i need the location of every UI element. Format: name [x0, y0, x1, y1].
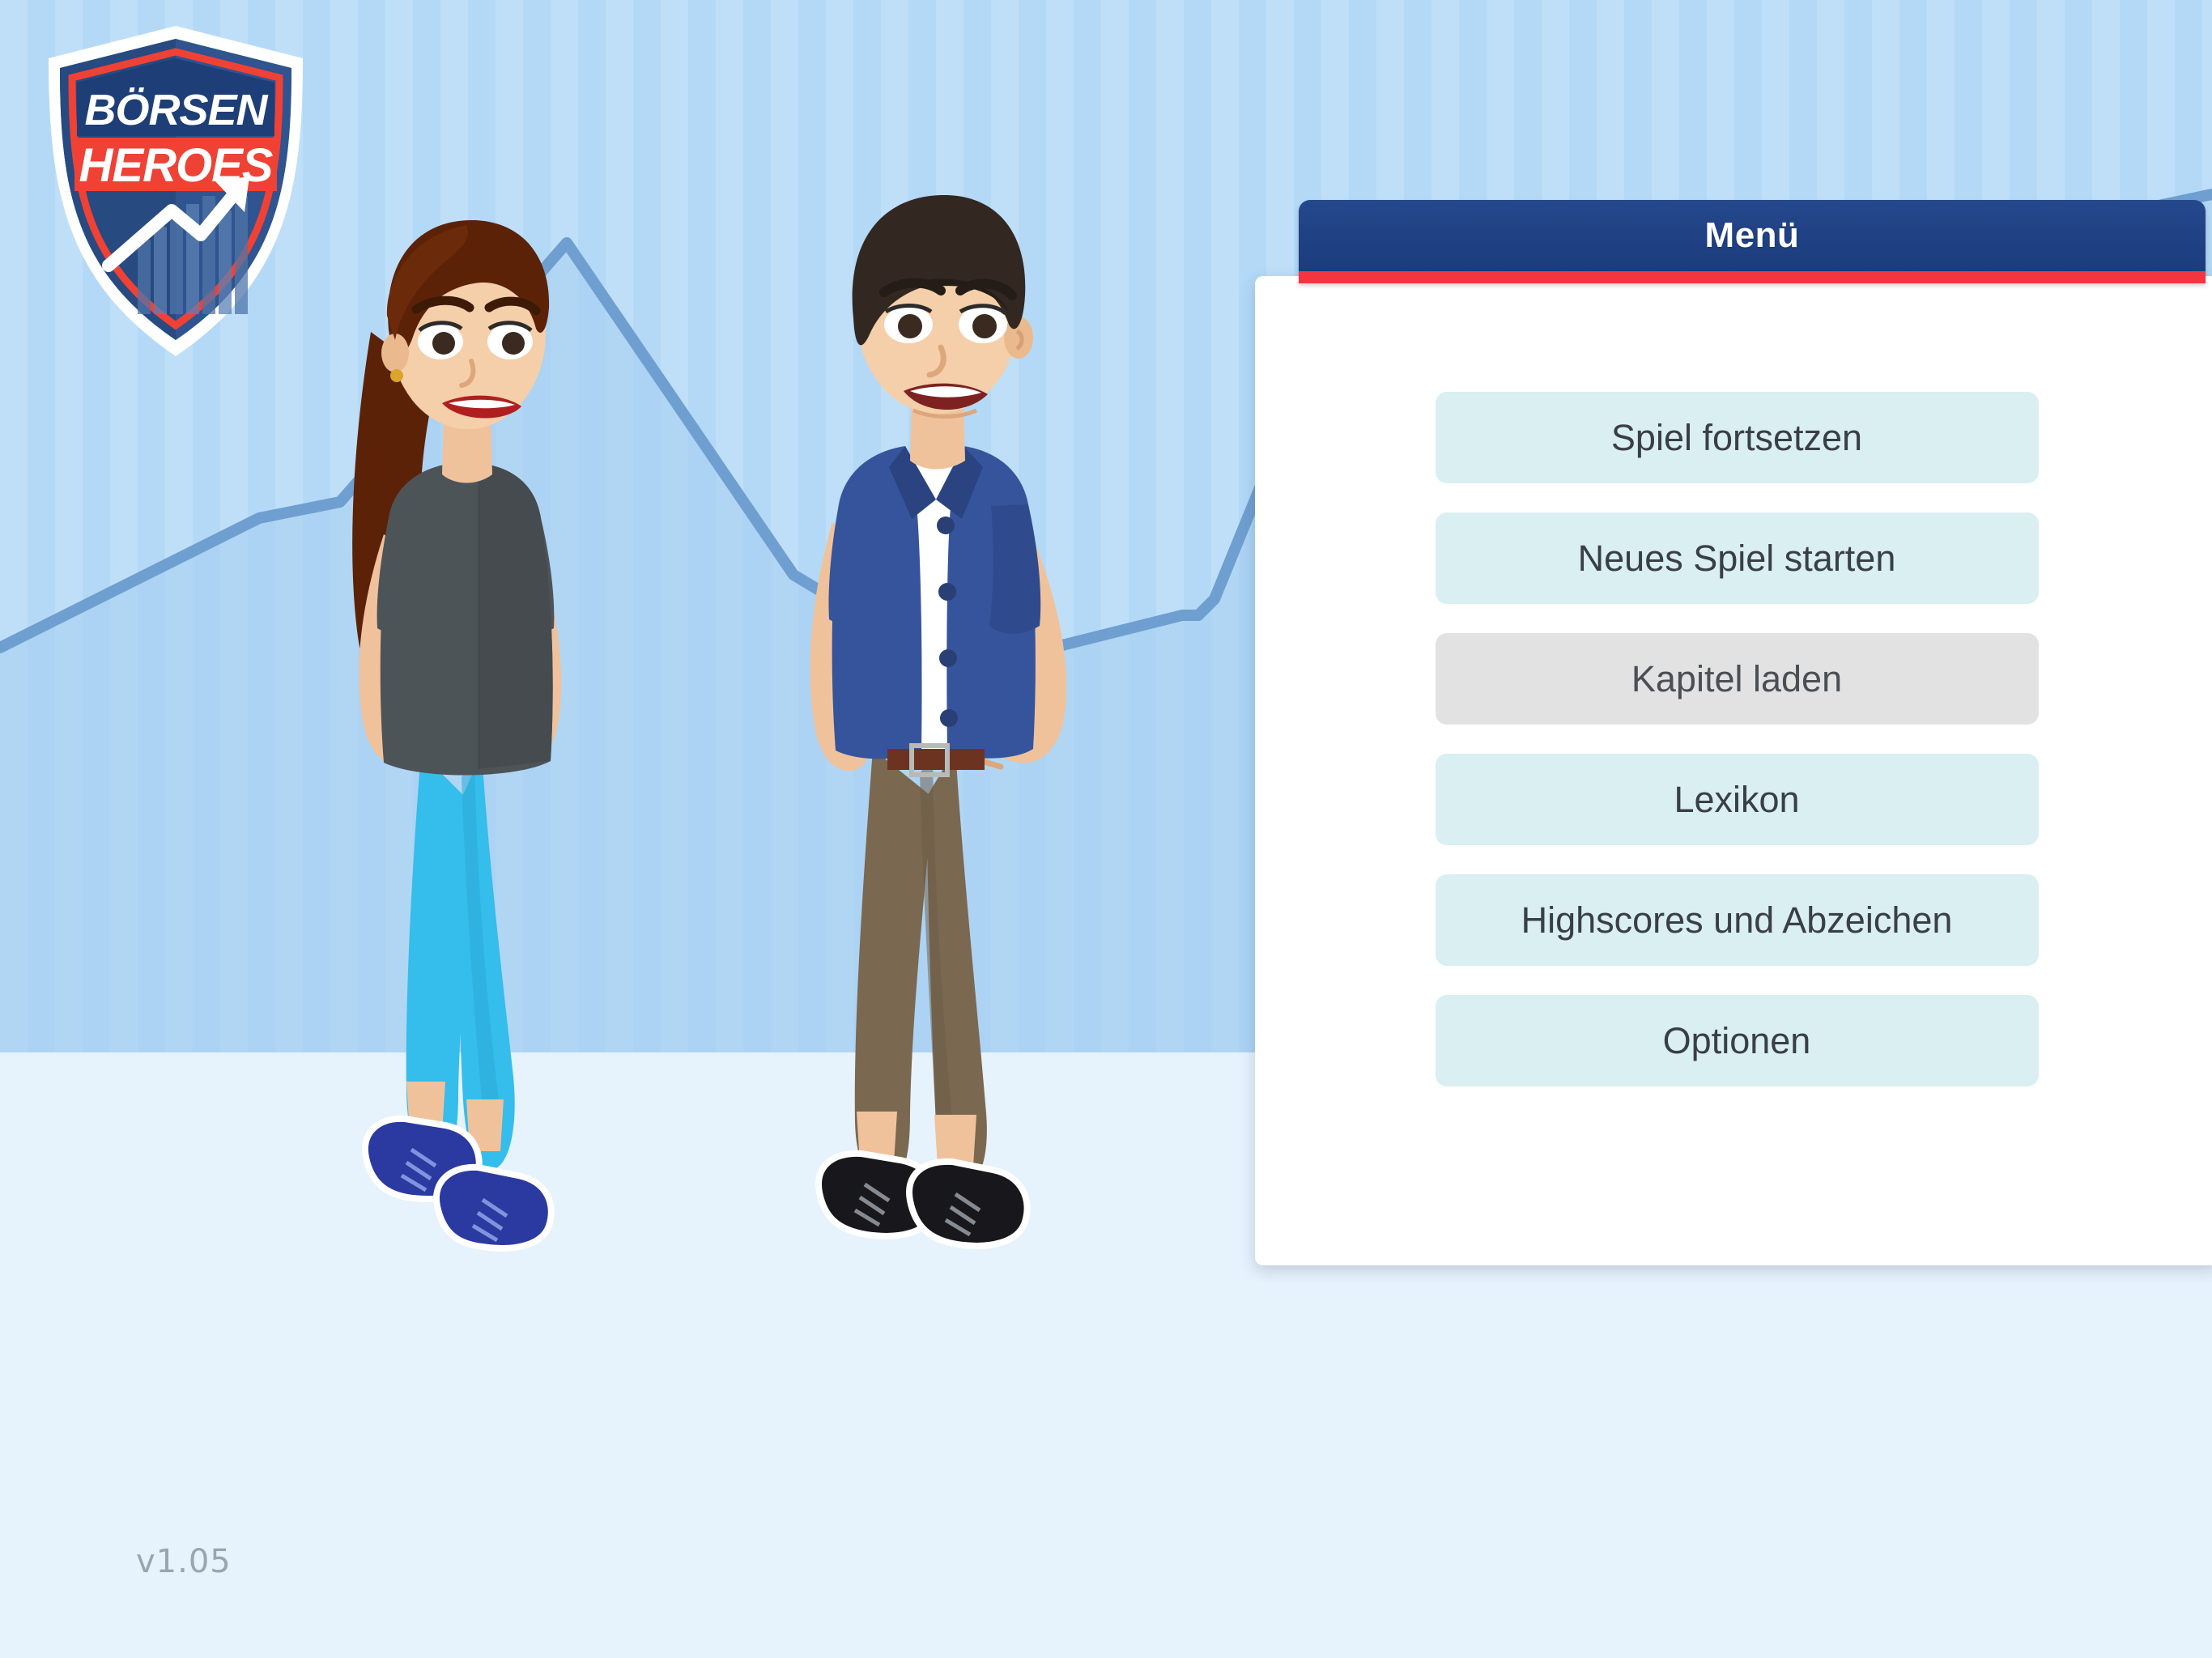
menu-button-list: Spiel fortsetzen Neues Spiel starten Kap…: [1255, 276, 2212, 1265]
menu-item-lexikon[interactable]: Lexikon: [1436, 754, 2039, 845]
svg-text:BÖRSEN: BÖRSEN: [84, 86, 268, 134]
menu-item-optionen[interactable]: Optionen: [1436, 995, 2039, 1086]
menu-item-neues-spiel-starten[interactable]: Neues Spiel starten: [1436, 512, 2039, 604]
menu-item-kapitel-laden[interactable]: Kapitel laden: [1436, 633, 2039, 725]
menu-item-highscores-und-abzeichen[interactable]: Highscores und Abzeichen: [1436, 874, 2039, 966]
menu-item-spiel-fortsetzen[interactable]: Spiel fortsetzen: [1436, 392, 2039, 483]
male-character: [761, 182, 1134, 1275]
svg-text:HEROES: HEROES: [79, 139, 274, 192]
borsen-heroes-logo: BÖRSEN HEROES: [42, 23, 309, 363]
female-character: [316, 194, 664, 1271]
game-main-menu-screen: BÖRSEN HEROES: [0, 0, 2212, 1658]
version-label: v1.05: [136, 1543, 232, 1580]
main-menu-panel: Menü Spiel fortsetzen Neues Spiel starte…: [1255, 200, 2212, 1269]
menu-title: Menü: [1705, 215, 1800, 256]
menu-title-bar: Menü: [1299, 200, 2206, 271]
